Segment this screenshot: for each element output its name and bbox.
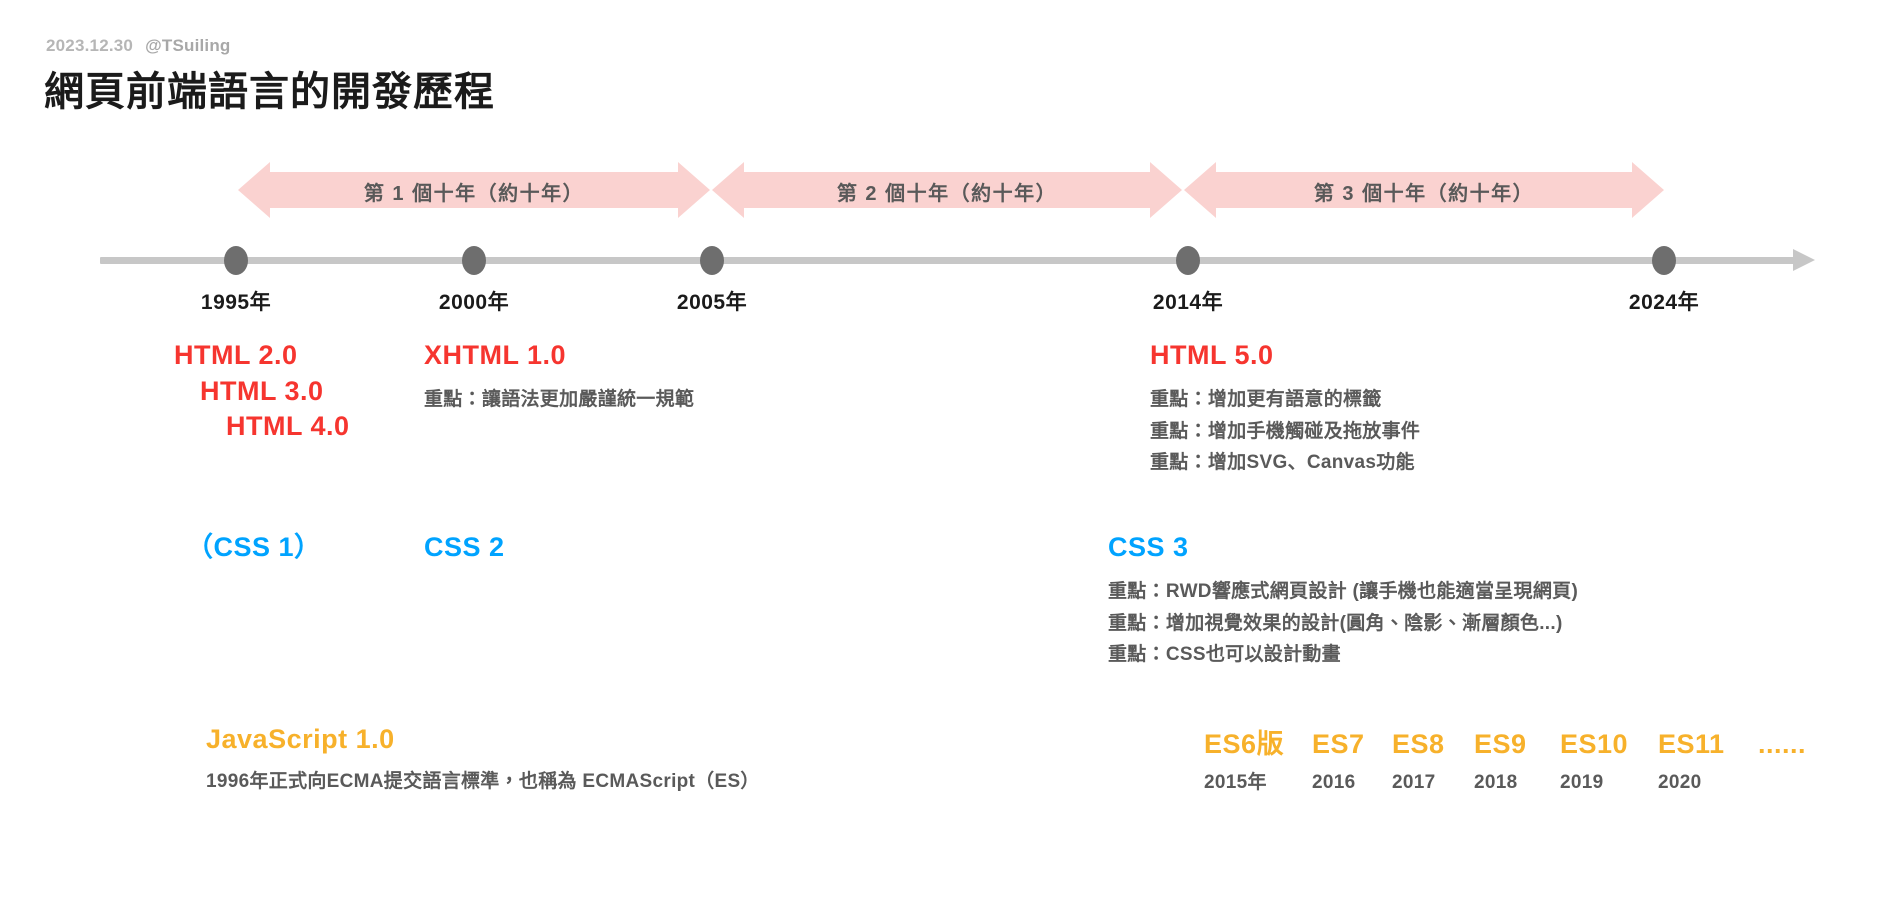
- meta-line: 2023.12.30@TSuiling: [46, 36, 231, 56]
- css3-detail-1: 重點：RWD響應式網頁設計 (讓手機也能適當呈現網頁): [1108, 576, 1578, 608]
- es-year-row: 2015年 2016 2017 2018 2019 2020: [1204, 767, 1806, 794]
- es-year-2019: 2019: [1560, 772, 1658, 794]
- html-version-3: HTML 4.0: [174, 409, 350, 445]
- es-year-2020: 2020: [1658, 772, 1701, 794]
- css2-group: CSS 2: [424, 530, 505, 566]
- xhtml-title: XHTML 1.0: [424, 338, 694, 374]
- es-year-2018: 2018: [1474, 772, 1560, 794]
- es-version-es10: ES10: [1560, 729, 1658, 760]
- timeline-arrow-icon: [1793, 249, 1815, 271]
- html5-detail-3: 重點：增加SVG、Canvas功能: [1150, 447, 1420, 479]
- css2-title: CSS 2: [424, 530, 505, 566]
- timeline-label-2014: 2014年: [1153, 286, 1223, 316]
- publish-date: 2023.12.30: [46, 36, 133, 55]
- decade-banner-row: 第 1 個十年（約十年） 第 2 個十年（約十年） 第 3 個十年（約十年）: [0, 162, 1900, 218]
- decade-banner-3: 第 3 個十年（約十年）: [1184, 162, 1664, 218]
- timeline-label-2000: 2000年: [439, 286, 509, 316]
- javascript-detail: 1996年正式向ECMA提交語言標準，也稱為 ECMAScript（ES）: [206, 766, 760, 798]
- xhtml-detail: 重點：讓語法更加嚴謹統一規範: [424, 384, 694, 416]
- css3-title: CSS 3: [1108, 530, 1578, 566]
- timeline-node-2000: [462, 246, 486, 275]
- decade-banner-2: 第 2 個十年（約十年）: [712, 162, 1182, 218]
- decade-banner-1-label: 第 1 個十年（約十年）: [364, 177, 584, 206]
- timeline-label-1995: 1995年: [201, 286, 271, 316]
- html5-detail-2: 重點：增加手機觸碰及拖放事件: [1150, 416, 1420, 448]
- es-versions-group: ES6版 ES7 ES8 ES9 ES10 ES11 ...... 2015年 …: [1204, 722, 1806, 794]
- es-version-es6: ES6版: [1204, 722, 1312, 761]
- css3-detail-2: 重點：增加視覺效果的設計(圓角、陰影、漸層顏色...): [1108, 608, 1578, 640]
- javascript-group: JavaScript 1.0 1996年正式向ECMA提交語言標準，也稱為 EC…: [206, 722, 760, 798]
- html-version-1: HTML 2.0: [174, 338, 350, 374]
- es-version-ellipsis: ......: [1758, 729, 1806, 760]
- timeline-node-2005: [700, 246, 724, 275]
- diagram-canvas: 2023.12.30@TSuiling 網頁前端語言的開發歷程 第 1 個十年（…: [0, 0, 1900, 900]
- timeline-label-2024: 2024年: [1629, 286, 1699, 316]
- timeline-axis: 1995年 2000年 2005年 2014年 2024年: [0, 238, 1900, 308]
- html5-title: HTML 5.0: [1150, 338, 1420, 374]
- timeline-node-1995: [224, 246, 248, 275]
- timeline-node-2024: [1652, 246, 1676, 275]
- es-version-es11: ES11: [1658, 729, 1758, 760]
- es-year-2017: 2017: [1392, 772, 1474, 794]
- xhtml-group: XHTML 1.0 重點：讓語法更加嚴謹統一規範: [424, 338, 694, 416]
- es-version-row: ES6版 ES7 ES8 ES9 ES10 ES11 ......: [1204, 722, 1806, 761]
- decade-banner-1: 第 1 個十年（約十年）: [238, 162, 710, 218]
- author-handle: @TSuiling: [145, 36, 230, 55]
- css3-group: CSS 3 重點：RWD響應式網頁設計 (讓手機也能適當呈現網頁) 重點：增加視…: [1108, 530, 1578, 671]
- html-early-versions: HTML 2.0 HTML 3.0 HTML 4.0: [174, 338, 350, 445]
- html5-group: HTML 5.0 重點：增加更有語意的標籤 重點：增加手機觸碰及拖放事件 重點：…: [1150, 338, 1420, 479]
- html-version-2: HTML 3.0: [174, 374, 350, 410]
- html5-detail-1: 重點：增加更有語意的標籤: [1150, 384, 1420, 416]
- timeline-axis-line: [100, 257, 1800, 264]
- css1-group: （CSS 1）: [186, 530, 322, 566]
- es-version-es8: ES8: [1392, 729, 1474, 760]
- javascript-title: JavaScript 1.0: [206, 722, 760, 758]
- es-version-es7: ES7: [1312, 729, 1392, 760]
- decade-banner-3-label: 第 3 個十年（約十年）: [1314, 177, 1534, 206]
- page-title: 網頁前端語言的開發歷程: [44, 59, 495, 117]
- decade-banner-2-label: 第 2 個十年（約十年）: [837, 177, 1057, 206]
- css3-detail-3: 重點：CSS也可以設計動畫: [1108, 639, 1578, 671]
- timeline-node-2014: [1176, 246, 1200, 275]
- es-year-2016: 2016: [1312, 772, 1392, 794]
- css1-title: （CSS 1）: [186, 530, 322, 566]
- timeline-label-2005: 2005年: [677, 286, 747, 316]
- es-year-2015: 2015年: [1204, 767, 1312, 794]
- es-version-es9: ES9: [1474, 729, 1560, 760]
